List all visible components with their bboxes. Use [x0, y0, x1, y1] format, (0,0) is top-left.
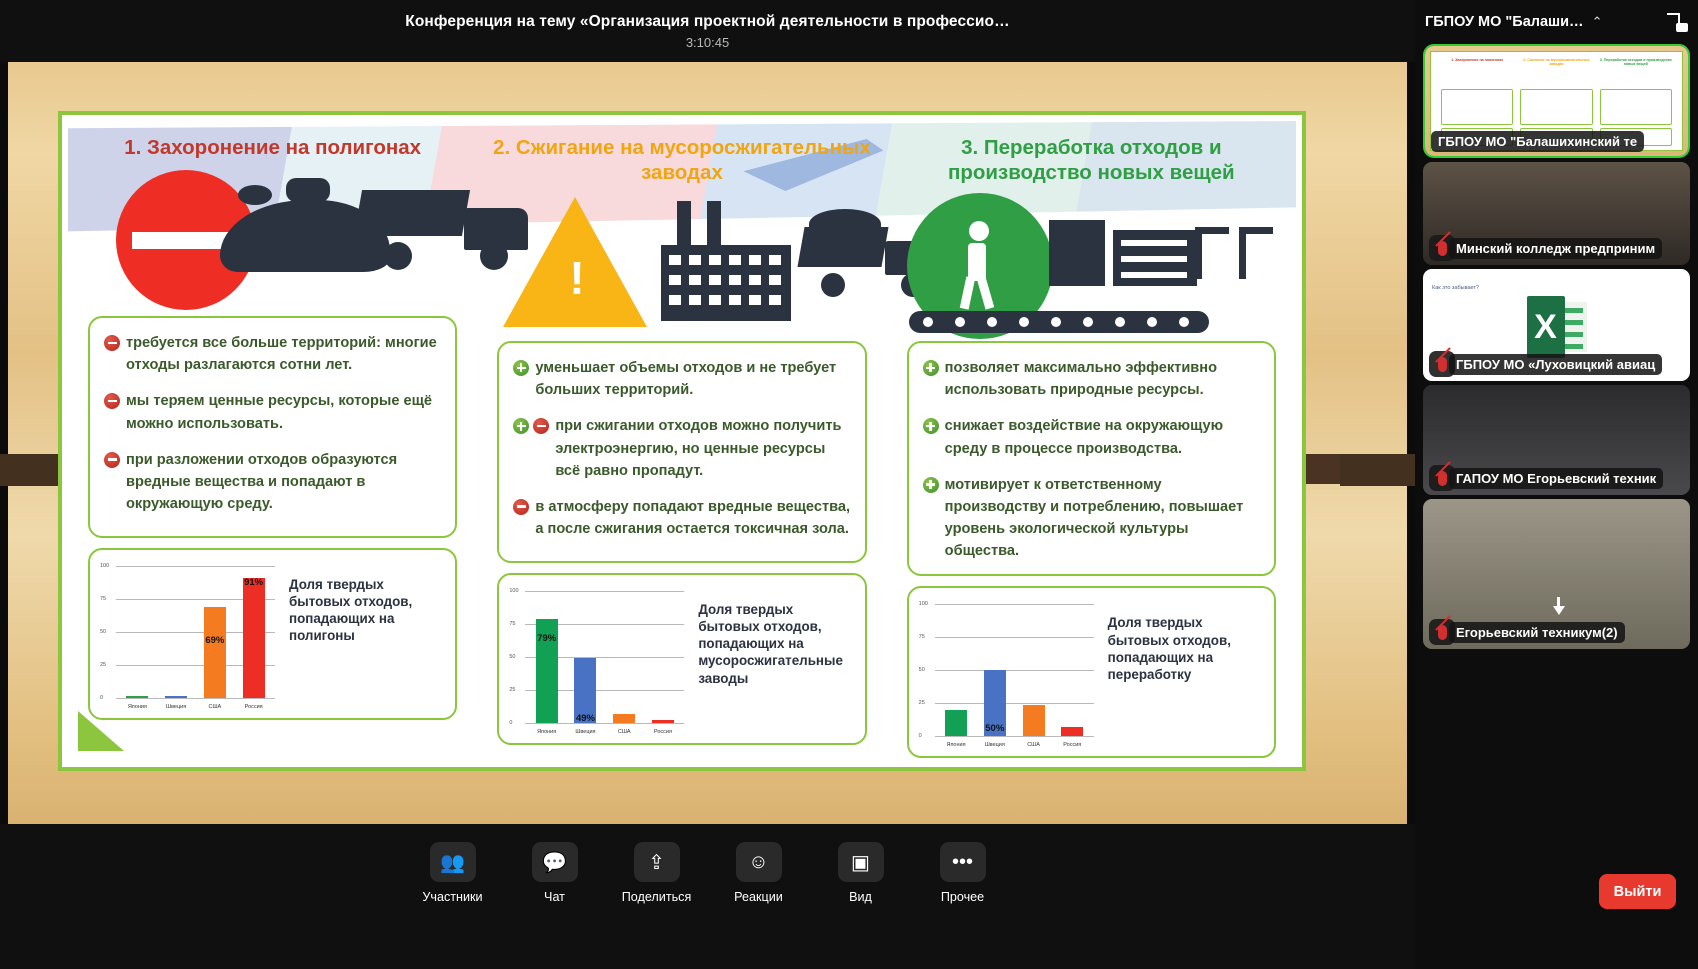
- chart-bars: 1%1%69%91%: [118, 566, 273, 698]
- column-artwork-3: [899, 193, 1284, 333]
- chart-xtick-label: Швеция: [161, 704, 191, 710]
- meeting-toolbar: 👥 Участники 💬 Чат ⇪ Поделиться ☺ Реакции…: [0, 824, 1415, 969]
- column-artwork-1: [80, 168, 465, 308]
- plus-badge-icon: [923, 418, 939, 434]
- plus-badge-icon: [923, 477, 939, 493]
- bullet-item: позволяет максимально эффективно использ…: [923, 357, 1260, 401]
- chart-ytick-label: 50: [509, 654, 515, 660]
- tile-label-1: Минский колледж предприним: [1449, 238, 1662, 259]
- leave-button[interactable]: Выйти: [1599, 874, 1676, 909]
- factory-window: [669, 275, 681, 285]
- excel-icon: X: [1527, 296, 1587, 358]
- plant-detail-line: [1121, 256, 1187, 262]
- minus-badge-icon: [533, 418, 549, 434]
- bullet-text: мотивирует к ответственному производству…: [945, 474, 1260, 563]
- bullet-item: мотивирует к ответственному производству…: [923, 474, 1260, 563]
- chart-gridline: [935, 736, 1094, 737]
- chevron-up-icon[interactable]: ⌃: [1592, 14, 1603, 30]
- column-heading-1: 1. Захоронение на полигонах: [80, 135, 465, 160]
- chart-ytick-label: 75: [919, 634, 925, 640]
- meeting-title: Конференция на тему «Организация проектн…: [405, 13, 1009, 31]
- plus-badge-icon: [513, 418, 529, 434]
- chart-bar-group: 1%: [165, 696, 187, 698]
- participants-rail: ГБПОУ МО "Балаши… ⌃ 1. Захоронение на по…: [1415, 0, 1698, 969]
- poster-column-landfill: 1. Захоронение на полигонах требуетс: [68, 121, 477, 761]
- participant-tile-4[interactable]: Егорьевский техникум(2): [1423, 499, 1690, 649]
- chart-xaxis-labels: ЯпонияШвецияСШАРоссия: [937, 742, 1092, 748]
- factory-window: [669, 255, 681, 265]
- participant-tile-1[interactable]: Минский колледж предприним: [1423, 162, 1690, 265]
- chart-bar-group: 69%: [204, 607, 226, 698]
- chart-bar-group: 7%: [1061, 727, 1083, 736]
- factory-window: [689, 255, 701, 265]
- chart-ytick-label: 100: [509, 588, 518, 594]
- factory-window: [729, 295, 741, 305]
- chart-caption-2: Доля твердых бытовых отходов, попадающих…: [684, 585, 854, 733]
- bullet-item: в атмосферу попадают вредные вещества, а…: [513, 496, 850, 540]
- chart-ytick-label: 0: [509, 720, 512, 726]
- chart-bar-group: 50%: [984, 670, 1006, 736]
- plus-badge-icon: [513, 360, 529, 376]
- video-conference-window: Конференция на тему «Организация проектн…: [0, 0, 1698, 969]
- toolbar-button-view[interactable]: ▣ Вид: [818, 842, 904, 904]
- bullet-text: при сжигании отходов можно получить элек…: [555, 415, 850, 482]
- bullet-item: мы теряем ценные ресурсы, которые ещё мо…: [104, 390, 441, 434]
- chart-bar: [1023, 705, 1045, 737]
- factory-window: [769, 275, 781, 285]
- toolbar-label: Чат: [544, 890, 565, 904]
- bullet-item: при разложении отходов образуются вредны…: [104, 449, 441, 516]
- minus-badge-icon: [104, 335, 120, 351]
- chart-bar: [243, 578, 265, 698]
- factory-window: [709, 255, 721, 265]
- column-heading-3: 3. Переработка отходов и производство но…: [899, 135, 1284, 185]
- chart-ytick-label: 25: [919, 700, 925, 706]
- pedestrian-icon: [955, 221, 1001, 309]
- chart-bar-value: 49%: [576, 713, 595, 724]
- poster-column-incineration: 2. Сжигание на мусоросжигательных завода…: [477, 121, 886, 761]
- factory-window: [689, 295, 701, 305]
- people-icon: 👥: [430, 842, 476, 882]
- chart-ytick-label: 0: [100, 695, 103, 701]
- exclamation-mark-icon: !: [569, 255, 584, 301]
- chart-ytick-label: 25: [509, 687, 515, 693]
- bullet-text: уменьшает объемы отходов и не требует бо…: [535, 357, 850, 401]
- bullet-card-2: уменьшает объемы отходов и не требует бо…: [497, 341, 866, 563]
- mouse-cursor: [1553, 597, 1565, 615]
- plus-badge-icon: [923, 360, 939, 376]
- poster-column-recycling: 3. Переработка отходов и производство но…: [887, 121, 1296, 761]
- chart-bar-group: 49%: [574, 658, 596, 723]
- chart-gridline: [525, 723, 684, 724]
- share-icon: ⇪: [634, 842, 680, 882]
- meeting-header: Конференция на тему «Организация проектн…: [0, 0, 1415, 62]
- toolbar-button-more[interactable]: ••• Прочее: [920, 842, 1006, 904]
- chart-bar: [945, 710, 967, 736]
- toolbar-label: Реакции: [734, 890, 783, 904]
- chart-bar-group: 79%: [536, 619, 558, 723]
- minus-badge-icon: [104, 393, 120, 409]
- chart-bar-group: 24%: [1023, 705, 1045, 737]
- bullet-item: требуется все больше территорий: многие …: [104, 332, 441, 376]
- chart-ytick-label: 100: [100, 563, 109, 569]
- factory-window: [769, 295, 781, 305]
- chart-xtick-label: Япония: [941, 742, 971, 748]
- bar-chart-2: 025507510079%49%7%2%ЯпонияШвецияСШАРосси…: [509, 585, 684, 735]
- tile-label-2: ГБПОУ МО «Луховицкий авиац: [1449, 354, 1662, 375]
- chart-xtick-label: США: [609, 729, 639, 735]
- factory-window: [749, 275, 761, 285]
- chart-bar: [204, 607, 226, 698]
- factory-window: [669, 295, 681, 305]
- toolbar-button-reactions[interactable]: ☺ Реакции: [716, 842, 802, 904]
- chart-card-3: 025507510020%50%24%7%ЯпонияШвецияСШАРосс…: [907, 586, 1276, 758]
- toolbar-label: Вид: [849, 890, 872, 904]
- chart-bars: 79%49%7%2%: [527, 591, 682, 723]
- chart-card-2: 025507510079%49%7%2%ЯпонияШвецияСШАРосси…: [497, 573, 866, 745]
- chart-bar-value: 50%: [985, 723, 1004, 734]
- factory-window: [689, 275, 701, 285]
- chart-ytick-label: 50: [100, 629, 106, 635]
- chart-xtick-label: США: [200, 704, 230, 710]
- chart-ytick-label: 75: [100, 596, 106, 602]
- chart-caption-3: Доля твердых бытовых отходов, попадающих…: [1094, 598, 1264, 746]
- chart-ytick-label: 75: [509, 621, 515, 627]
- furniture-icon: [1195, 217, 1281, 287]
- view-icon: ▣: [838, 842, 884, 882]
- chart-xtick-label: Россия: [648, 729, 678, 735]
- tile-label-4: Егорьевский техникум(2): [1449, 622, 1625, 643]
- bullet-text: требуется все больше территорий: многие …: [126, 332, 441, 376]
- participant-tile-0[interactable]: 1. Захоронение на полигонах 2. Сжигание …: [1423, 44, 1690, 158]
- chart-gridline: [116, 698, 275, 699]
- shared-screen-stage[interactable]: 1. Захоронение на полигонах требуетс: [0, 62, 1415, 824]
- chart-bars: 20%50%24%7%: [937, 604, 1092, 736]
- chart-ytick-label: 25: [100, 662, 106, 668]
- chart-bar: [165, 696, 187, 698]
- factory-window: [709, 275, 721, 285]
- conveyor-belt-icon: [909, 311, 1209, 333]
- factory-window: [769, 255, 781, 265]
- chart-bar: [126, 696, 148, 698]
- dual-badge-group: [513, 415, 549, 482]
- toolbar-button-share[interactable]: ⇪ Поделиться: [614, 842, 700, 904]
- chart-bar-group: 20%: [945, 710, 967, 736]
- chart-card-1: 02550751001%1%69%91%ЯпонияШвецияСШАРосси…: [88, 548, 457, 720]
- chart-xtick-label: Россия: [1057, 742, 1087, 748]
- chart-xtick-label: Россия: [239, 704, 269, 710]
- chart-bar: [652, 720, 674, 723]
- popout-icon[interactable]: [1666, 12, 1688, 32]
- bullet-text: в атмосферу попадают вредные вещества, а…: [535, 496, 850, 540]
- pinned-participant-name: ГБПОУ МО "Балаши…: [1425, 14, 1584, 30]
- chart-ytick-label: 100: [919, 601, 928, 607]
- plant-detail-line: [1121, 272, 1187, 278]
- reactions-icon: ☺: [736, 842, 782, 882]
- factory-window: [749, 295, 761, 305]
- chart-xaxis-labels: ЯпонияШвецияСШАРоссия: [118, 704, 273, 710]
- bullet-card-3: позволяет максимально эффективно использ…: [907, 341, 1276, 576]
- recycling-plant-icon: [1049, 203, 1199, 308]
- plant-detail-line: [1121, 240, 1187, 246]
- column-artwork-2: !: [489, 193, 874, 333]
- participant-tile-3[interactable]: ГАПОУ МО Егорьевский техник: [1423, 385, 1690, 495]
- chart-bar-value: 69%: [205, 635, 224, 646]
- bullet-text: при разложении отходов образуются вредны…: [126, 449, 441, 516]
- chart-xtick-label: Швеция: [980, 742, 1010, 748]
- toolbar-label: Прочее: [941, 890, 984, 904]
- chat-icon: 💬: [532, 842, 578, 882]
- toolbar-label: Поделиться: [622, 890, 692, 904]
- participant-tile-2[interactable]: Как это забывает? X ГБПОУ МО «Луховицкий…: [1423, 269, 1690, 381]
- chart-bar-group: 1%: [126, 696, 148, 698]
- chart-bar-value: 91%: [244, 577, 263, 588]
- board-mount-right: [1340, 454, 1415, 486]
- toolbar-button-participants[interactable]: 👥 Участники: [410, 842, 496, 904]
- chart-caption-1: Доля твердых бытовых отходов, попадающих…: [275, 560, 445, 708]
- factory-window: [709, 295, 721, 305]
- factory-window: [749, 255, 761, 265]
- bar-chart-3: 025507510020%50%24%7%ЯпонияШвецияСШАРосс…: [919, 598, 1094, 748]
- bullet-text: мы теряем ценные ресурсы, которые ещё мо…: [126, 390, 441, 434]
- chart-bar-group: 7%: [613, 714, 635, 723]
- tile-label-3: ГАПОУ МО Егорьевский техник: [1449, 468, 1663, 489]
- toolbar-label: Участники: [422, 890, 482, 904]
- chart-bar: [613, 714, 635, 723]
- factory-window: [729, 275, 741, 285]
- bullet-text: позволяет максимально эффективно использ…: [945, 357, 1260, 401]
- chart-xtick-label: США: [1019, 742, 1049, 748]
- more-icon: •••: [940, 842, 986, 882]
- bullet-item: снижает воздействие на окружающую среду …: [923, 415, 1260, 459]
- bullet-text: снижает воздействие на окружающую среду …: [945, 415, 1260, 459]
- chart-ytick-label: 0: [919, 733, 922, 739]
- chart-xaxis-labels: ЯпонияШвецияСШАРоссия: [527, 729, 682, 735]
- column-heading-2: 2. Сжигание на мусоросжигательных завода…: [489, 135, 874, 185]
- chart-xtick-label: Япония: [122, 704, 152, 710]
- minus-badge-icon: [513, 499, 529, 515]
- shared-poster: 1. Захоронение на полигонах требуетс: [58, 111, 1306, 771]
- tile-label-0: ГБПОУ МО "Балашихинский те: [1431, 131, 1644, 152]
- bullet-item: уменьшает объемы отходов и не требует бо…: [513, 357, 850, 401]
- bar-chart-1: 02550751001%1%69%91%ЯпонияШвецияСШАРосси…: [100, 560, 275, 710]
- chart-xtick-label: Швеция: [570, 729, 600, 735]
- toolbar-button-chat[interactable]: 💬 Чат: [512, 842, 598, 904]
- bullet-item: при сжигании отходов можно получить элек…: [513, 415, 850, 482]
- chart-bar-value: 79%: [537, 633, 556, 644]
- bullet-card-1: требуется все больше территорий: многие …: [88, 316, 457, 538]
- chart-bar: [1061, 727, 1083, 736]
- factory-icon: [661, 201, 791, 321]
- chart-bar-group: 2%: [652, 720, 674, 723]
- rail-header[interactable]: ГБПОУ МО "Балаши… ⌃: [1415, 0, 1698, 44]
- factory-window: [729, 255, 741, 265]
- chart-xtick-label: Япония: [532, 729, 562, 735]
- minus-badge-icon: [104, 452, 120, 468]
- chart-bar-group: 91%: [243, 578, 265, 698]
- chart-ytick-label: 50: [919, 667, 925, 673]
- meeting-timer: 3:10:45: [686, 35, 729, 50]
